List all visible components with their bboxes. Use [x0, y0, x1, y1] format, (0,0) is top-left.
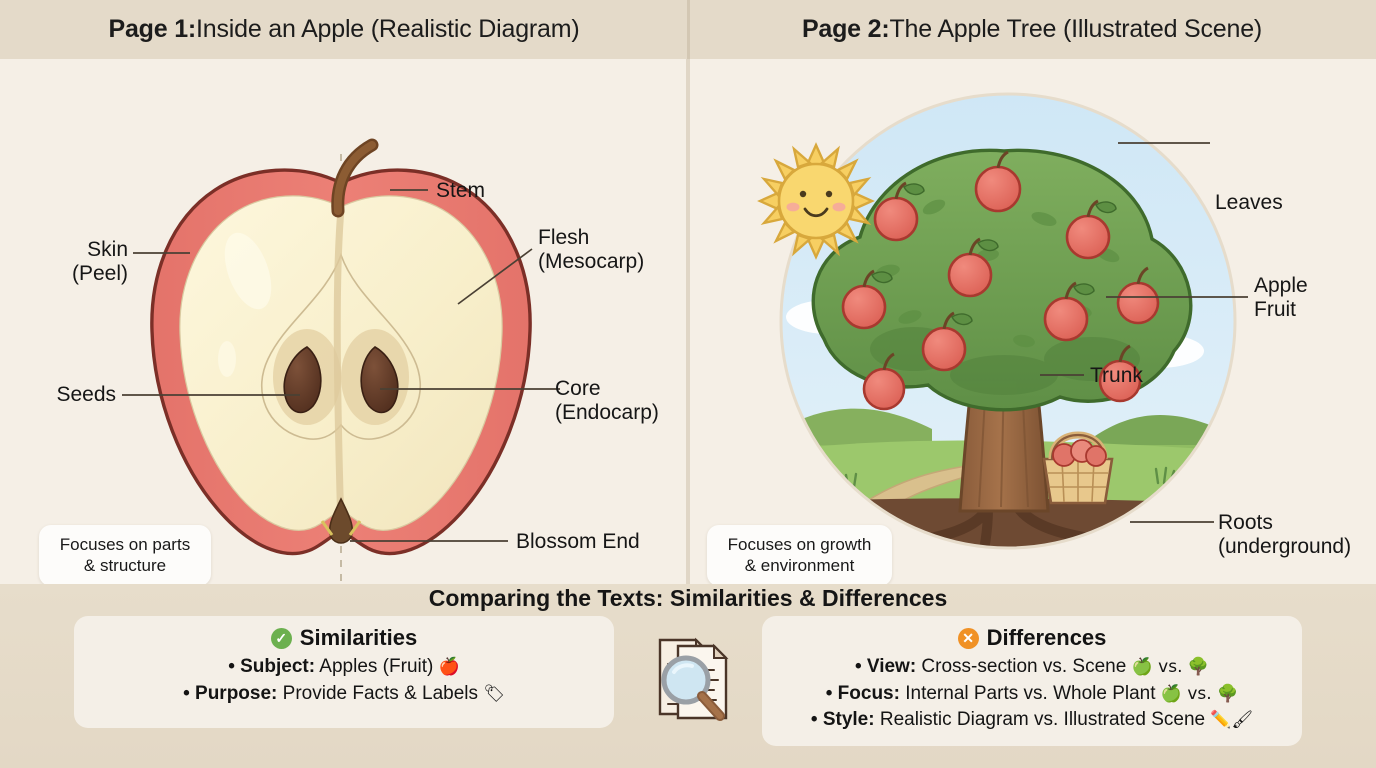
- documents-magnifier-icon: [630, 628, 746, 732]
- comparison-title: Comparing the Texts: Similarities & Diff…: [0, 585, 1376, 612]
- differences-heading-text: Differences: [987, 625, 1107, 651]
- bullet-label: View:: [867, 656, 916, 677]
- list-item: Purpose: Provide Facts & Labels 🏷: [88, 681, 600, 708]
- list-item: Style: Realistic Diagram vs. Illustrated…: [776, 707, 1288, 734]
- label-blossom-end: Blossom End: [516, 530, 640, 554]
- label-skin: Skin (Peel): [0, 238, 128, 285]
- bullet-text: Cross-section vs. Scene: [916, 656, 1131, 677]
- bullet-text: Provide Facts & Labels: [277, 683, 483, 704]
- differences-list: View: Cross-section vs. Scene 🍏 vs. 🌳 Fo…: [776, 654, 1288, 734]
- bullet-label: Style:: [823, 709, 875, 730]
- apple-diagram: [0, 59, 688, 584]
- list-item: Focus: Internal Parts vs. Whole Plant 🍏 …: [776, 681, 1288, 708]
- label-core: Core (Endocarp): [555, 377, 659, 424]
- label-leaves: Leaves: [1215, 191, 1283, 215]
- bullet-text: Apples (Fruit): [315, 656, 439, 677]
- list-item: View: Cross-section vs. Scene 🍏 vs. 🌳: [776, 654, 1288, 681]
- header-page-2: Page 2: The Apple Tree (Illustrated Scen…: [688, 0, 1376, 59]
- header-page-1-title: Inside an Apple (Realistic Diagram): [196, 15, 579, 44]
- label-tag-emoji: 🏷: [483, 684, 505, 704]
- flesh-highlight-2: [218, 341, 236, 377]
- bullet-text: Internal Parts vs. Whole Plant: [900, 683, 1161, 704]
- page-1-pane: Stem Skin (Peel) Flesh (Mesocarp) Seeds …: [0, 59, 688, 584]
- similarities-card: ✓ Similarities Subject: Apples (Fruit) 🍎…: [74, 616, 614, 728]
- similarities-list: Subject: Apples (Fruit) 🍎 Purpose: Provi…: [88, 654, 600, 707]
- label-roots: Roots (underground): [1218, 511, 1351, 558]
- comparison-worksheet: Page 1: Inside an Apple (Realistic Diagr…: [0, 0, 1376, 768]
- pages-area: Stem Skin (Peel) Flesh (Mesocarp) Seeds …: [0, 59, 1376, 584]
- similarities-heading-text: Similarities: [300, 625, 417, 651]
- differences-card: ✕ Differences View: Cross-section vs. Sc…: [762, 616, 1302, 746]
- page-2-pane: Leaves Apple Fruit Trunk Roots (undergro…: [688, 59, 1376, 584]
- differences-heading: ✕ Differences: [776, 625, 1288, 651]
- header-divider: [687, 0, 690, 59]
- bullet-label: Subject:: [240, 656, 315, 677]
- apple-tree-emoji: 🍏 vs. 🌳: [1132, 657, 1209, 677]
- pencil-brush-emoji: ✏️🖌: [1210, 710, 1253, 730]
- apple-tree-emoji: 🍏 vs. 🌳: [1161, 684, 1238, 704]
- comparison-section: Comparing the Texts: Similarities & Diff…: [0, 584, 1376, 768]
- bullet-label: Focus:: [838, 683, 900, 704]
- core-strand: [337, 209, 341, 529]
- apple-tree-scene: [688, 59, 1376, 584]
- sun-icon: [760, 145, 872, 257]
- header-page-1-lead: Page 1:: [109, 15, 197, 44]
- list-item: Subject: Apples (Fruit) 🍎: [88, 654, 600, 681]
- label-flesh: Flesh (Mesocarp): [538, 226, 644, 273]
- check-circle-icon: ✓: [271, 628, 292, 649]
- header-page-2-title: The Apple Tree (Illustrated Scene): [889, 15, 1262, 44]
- x-circle-icon: ✕: [958, 628, 979, 649]
- page-1-caption-badge: Focuses on parts & structure: [39, 525, 211, 584]
- bullet-text: Realistic Diagram vs. Illustrated Scene: [875, 709, 1211, 730]
- apple-emoji: 🍎: [439, 657, 460, 677]
- label-trunk: Trunk: [1090, 364, 1143, 388]
- label-apple-fruit: Apple Fruit: [1254, 274, 1308, 321]
- label-stem: Stem: [436, 179, 485, 203]
- apple-basket: [1044, 435, 1112, 503]
- bullet-label: Purpose:: [195, 683, 277, 704]
- header-page-2-lead: Page 2:: [802, 15, 890, 44]
- page-2-caption-badge: Focuses on growth & environment: [707, 525, 892, 584]
- label-seeds: Seeds: [0, 383, 116, 407]
- header-page-1: Page 1: Inside an Apple (Realistic Diagr…: [0, 0, 688, 59]
- similarities-heading: ✓ Similarities: [88, 625, 600, 651]
